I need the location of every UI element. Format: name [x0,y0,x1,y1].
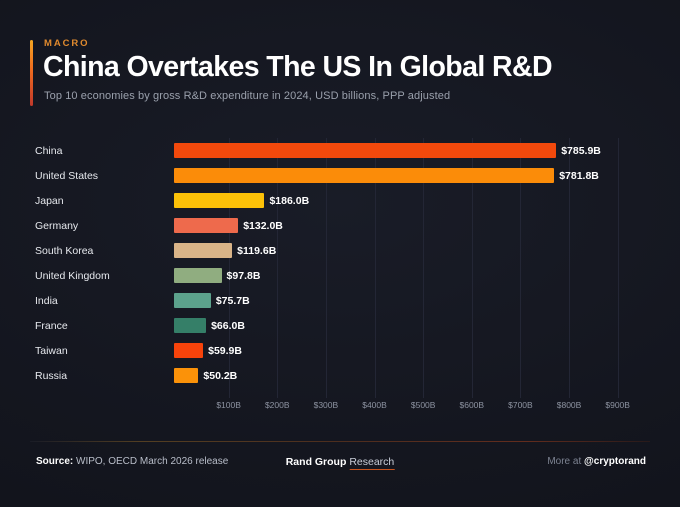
bar-value-label: $785.9B [561,145,601,157]
bar[interactable] [174,293,211,308]
bar-rows: China$785.9BUnited States$781.8BJapan$18… [30,138,650,388]
bar-value-label: $59.9B [208,345,242,357]
footer-divider [30,441,650,442]
bar-value-label: $132.0B [243,220,283,232]
bar[interactable] [174,168,554,183]
bar-row: Russia$50.2B [30,363,650,388]
bar-category-label: France [30,320,174,332]
bar-track: $59.9B [174,338,650,363]
bar-row: India$75.7B [30,288,650,313]
x-axis-tick-label: $700B [508,400,533,410]
x-axis-tick-label: $200B [265,400,290,410]
bar-row: France$66.0B [30,313,650,338]
bar-category-label: United States [30,170,174,182]
kicker-label: MACRO [44,38,89,49]
bar-value-label: $97.8B [227,270,261,282]
x-axis: $100B$200B$300B$400B$500B$600B$700B$800B… [180,398,642,418]
accent-bar [30,40,33,106]
bar-track: $132.0B [174,213,650,238]
bar-row: China$785.9B [30,138,650,163]
bar-track: $785.9B [174,138,650,163]
bar-category-label: Russia [30,370,174,382]
bar-value-label: $781.8B [559,170,599,182]
bar-value-label: $66.0B [211,320,245,332]
bar-chart: China$785.9BUnited States$781.8BJapan$18… [30,130,650,415]
footer: Source: WIPO, OECD March 2026 release Ra… [30,456,650,478]
bar-row: Taiwan$59.9B [30,338,650,363]
bar-row: South Korea$119.6B [30,238,650,263]
source-text: WIPO, OECD March 2026 release [73,456,228,467]
bar[interactable] [174,143,556,158]
bar-category-label: Germany [30,220,174,232]
bar-track: $119.6B [174,238,650,263]
bar[interactable] [174,243,232,258]
bar-track: $50.2B [174,363,650,388]
bar-value-label: $119.6B [237,245,276,257]
x-axis-tick-label: $600B [459,400,484,410]
bar[interactable] [174,318,206,333]
social-handle[interactable]: @cryptorand [584,456,646,467]
infographic-root: MACRO China Overtakes The US In Global R… [0,0,680,507]
bar-value-label: $186.0B [269,195,309,207]
bar-category-label: Taiwan [30,345,174,357]
page-subtitle: Top 10 economies by gross R&D expenditur… [44,90,450,102]
brand-mark: Rand Group Research [286,456,395,468]
brand-primary: Rand Group [286,456,347,468]
bar-row: United States$781.8B [30,163,650,188]
bar-category-label: Japan [30,195,174,207]
x-axis-tick-label: $400B [362,400,387,410]
bar-category-label: China [30,145,174,157]
bar[interactable] [174,193,264,208]
page-title: China Overtakes The US In Global R&D [43,51,552,84]
bar-value-label: $50.2B [203,370,237,382]
bar-value-label: $75.7B [216,295,250,307]
bar-track: $781.8B [174,163,650,188]
bar-row: Germany$132.0B [30,213,650,238]
bar-category-label: South Korea [30,245,174,257]
bar[interactable] [174,368,198,383]
more-at: More at @cryptorand [547,456,646,467]
source-label: Source: [36,456,73,467]
bar-category-label: India [30,295,174,307]
bar-track: $66.0B [174,313,650,338]
x-axis-tick-label: $900B [605,400,630,410]
bar[interactable] [174,218,238,233]
bar[interactable] [174,343,203,358]
bar-track: $186.0B [174,188,650,213]
bar-row: Japan$186.0B [30,188,650,213]
x-axis-tick-label: $100B [216,400,241,410]
bar[interactable] [174,268,222,283]
bar-row: United Kingdom$97.8B [30,263,650,288]
x-axis-tick-label: $500B [411,400,436,410]
bar-track: $97.8B [174,263,650,288]
source-note: Source: WIPO, OECD March 2026 release [36,456,228,467]
brand-secondary: Research [349,456,394,470]
bar-category-label: United Kingdom [30,270,174,282]
x-axis-tick-label: $300B [314,400,339,410]
header: MACRO China Overtakes The US In Global R… [30,38,650,110]
x-axis-tick-label: $800B [557,400,582,410]
more-prefix: More at [547,456,584,467]
bar-track: $75.7B [174,288,650,313]
